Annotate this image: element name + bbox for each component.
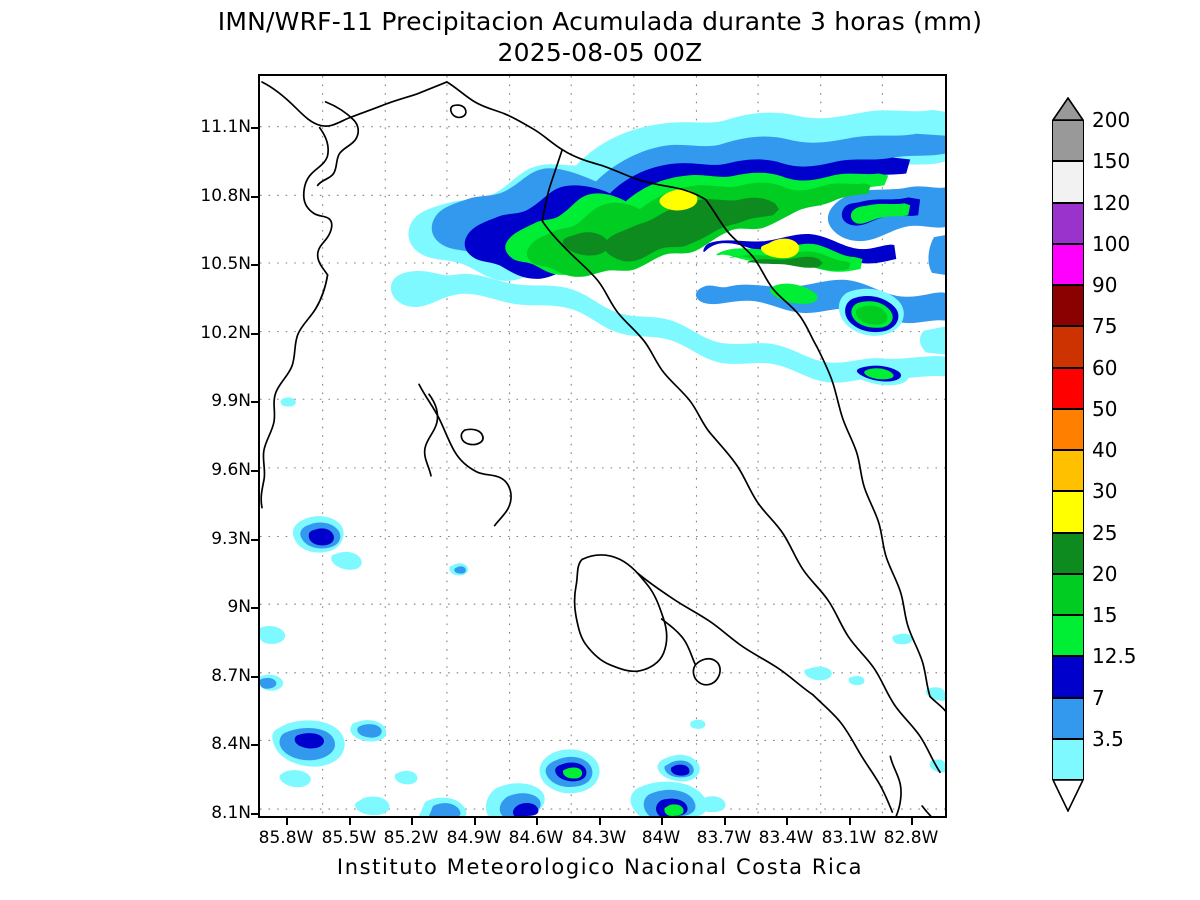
colorbar-band-3.5	[1052, 739, 1084, 780]
border-north	[304, 128, 332, 275]
coast-nw	[262, 82, 447, 126]
ytick-label: 11.1N	[200, 117, 251, 137]
precip-speck-9	[281, 397, 296, 406]
ytick-label: 9.3N	[211, 529, 251, 549]
colorbar-label-60: 60	[1092, 356, 1117, 380]
xtick-label: 85.2W	[384, 828, 439, 848]
colorbar-label-100: 100	[1092, 232, 1130, 256]
colorbar-label-12.5: 12.5	[1092, 644, 1137, 668]
xtick-mark	[849, 816, 851, 825]
colorbar-band-75	[1052, 326, 1084, 367]
peninsula-nicoya-inner	[425, 394, 438, 476]
peninsula-nicoya	[419, 384, 511, 525]
ytick-label: 8.7N	[211, 666, 251, 686]
colorbar-label-30: 30	[1092, 479, 1117, 503]
xtick-label: 83.1W	[822, 828, 877, 848]
xtick-label: 83.7W	[697, 828, 752, 848]
colorbar-label-20: 20	[1092, 562, 1117, 586]
precip-speck-4	[849, 676, 865, 685]
golfito-inlet	[693, 659, 720, 685]
precipitation-map	[260, 76, 945, 816]
xtick-mark	[536, 816, 538, 825]
colorbar-band-120	[1052, 203, 1084, 244]
coast-panama-bay	[890, 756, 901, 816]
colorbar-band-30	[1052, 491, 1084, 532]
colorbar-band-200	[1052, 120, 1084, 161]
xtick-label: 83.4W	[759, 828, 814, 848]
colorbar-band-60	[1052, 368, 1084, 409]
colorbar-band-20	[1052, 574, 1084, 615]
chart-title-line2: 2025-08-05 00Z	[0, 37, 1200, 68]
ytick-label: 10.2N	[200, 323, 251, 343]
ytick-mark	[251, 607, 260, 609]
coast-guanacaste	[318, 102, 359, 186]
ytick-mark	[251, 127, 260, 129]
island-top	[451, 105, 466, 117]
coast-panama-ne	[922, 806, 945, 816]
coast-panama-pacific	[813, 695, 893, 812]
ytick-mark	[251, 676, 260, 678]
ytick-mark	[251, 539, 260, 541]
ytick-label: 8.4N	[211, 734, 251, 754]
ytick-label: 9.9N	[211, 391, 251, 411]
colorbar-under-arrow	[1052, 779, 1084, 812]
precip-speck-8	[930, 760, 945, 773]
xtick-label: 84W	[642, 828, 680, 848]
colorbar-band-25	[1052, 533, 1084, 574]
xtick-mark	[411, 816, 413, 825]
chart-title: IMN/WRF-11 Precipitacion Acumulada duran…	[0, 6, 1200, 68]
xtick-label: 84.9W	[447, 828, 502, 848]
ytick-label: 9N	[227, 597, 251, 617]
chart-title-line1: IMN/WRF-11 Precipitacion Acumulada duran…	[218, 7, 982, 36]
xtick-mark	[286, 816, 288, 825]
colorbar-band-50	[1052, 409, 1084, 450]
colorbar-label-150: 150	[1092, 149, 1130, 173]
ytick-label: 10.8N	[200, 186, 251, 206]
ytick-mark	[251, 333, 260, 335]
colorbar-label-200: 200	[1092, 108, 1130, 132]
ytick-mark	[251, 813, 260, 815]
colorbar-label-25: 25	[1092, 521, 1117, 545]
colorbar-band-150	[1052, 161, 1084, 202]
border-panama	[709, 432, 940, 772]
colorbar-label-50: 50	[1092, 397, 1117, 421]
xtick-mark	[724, 816, 726, 825]
ytick-mark	[251, 744, 260, 746]
coast-pacific-sw	[638, 573, 813, 694]
xtick-mark	[786, 816, 788, 825]
colorbar-label-7: 7	[1092, 686, 1105, 710]
ytick-label: 8.1N	[211, 803, 251, 823]
ytick-mark	[251, 401, 260, 403]
precip-edge-strip-2	[920, 327, 945, 355]
xtick-mark	[349, 816, 351, 825]
colorbar-band-12.5	[1052, 656, 1084, 697]
precip-cell-9p6-sub	[331, 552, 362, 570]
xtick-mark	[661, 816, 663, 825]
precipitation-contours	[260, 110, 945, 816]
colorbar[interactable]: 20015012010090756050403025201512.573.5	[1052, 120, 1084, 780]
map-plot-area[interactable]: 11.1N 10.8N 10.5N 10.2N 9.9N 9.6N 9.3N 9…	[258, 74, 947, 818]
colorbar-band-90	[1052, 285, 1084, 326]
map-canvas	[260, 76, 945, 816]
xtick-mark	[474, 816, 476, 825]
coast-pacific-nw	[261, 275, 327, 508]
colorbar-label-15: 15	[1092, 603, 1117, 627]
nicoya-small-island	[461, 429, 483, 444]
precip-speck-3	[804, 667, 831, 681]
xtick-mark	[911, 816, 913, 825]
xtick-label: 84.6W	[509, 828, 564, 848]
colorbar-over-arrow	[1052, 97, 1084, 121]
peninsula-osa	[575, 555, 667, 671]
precip-speck-5	[690, 720, 705, 729]
precip-cell-sw-1	[280, 770, 311, 787]
ytick-label: 9.6N	[211, 460, 251, 480]
xtick-label: 82.8W	[884, 828, 939, 848]
colorbar-band-7	[1052, 698, 1084, 739]
ytick-mark	[251, 196, 260, 198]
colorbar-band-40	[1052, 450, 1084, 491]
ytick-label: 10.5N	[200, 254, 251, 274]
xtick-mark	[599, 816, 601, 825]
precip-speck-6	[892, 634, 912, 645]
precip-cell-bottom-1	[355, 797, 389, 816]
xtick-label: 84.3W	[572, 828, 627, 848]
precip-edge-strip-1	[928, 235, 945, 275]
precip-cell-bottom-2	[395, 771, 418, 784]
ytick-mark	[251, 264, 260, 266]
footer-credit: Instituto Meteorologico Nacional Costa R…	[0, 855, 1200, 879]
xtick-label: 85.8W	[259, 828, 314, 848]
colorbar-label-120: 120	[1092, 191, 1130, 215]
precip-cell-edge-1	[260, 626, 285, 644]
colorbar-label-40: 40	[1092, 438, 1117, 462]
colorbar-label-75: 75	[1092, 314, 1117, 338]
ytick-mark	[251, 470, 260, 472]
colorbar-band-15	[1052, 615, 1084, 656]
colorbar-label-3.5: 3.5	[1092, 727, 1124, 751]
colorbar-band-100	[1052, 244, 1084, 285]
colorbar-label-90: 90	[1092, 273, 1117, 297]
xtick-label: 85.5W	[322, 828, 377, 848]
